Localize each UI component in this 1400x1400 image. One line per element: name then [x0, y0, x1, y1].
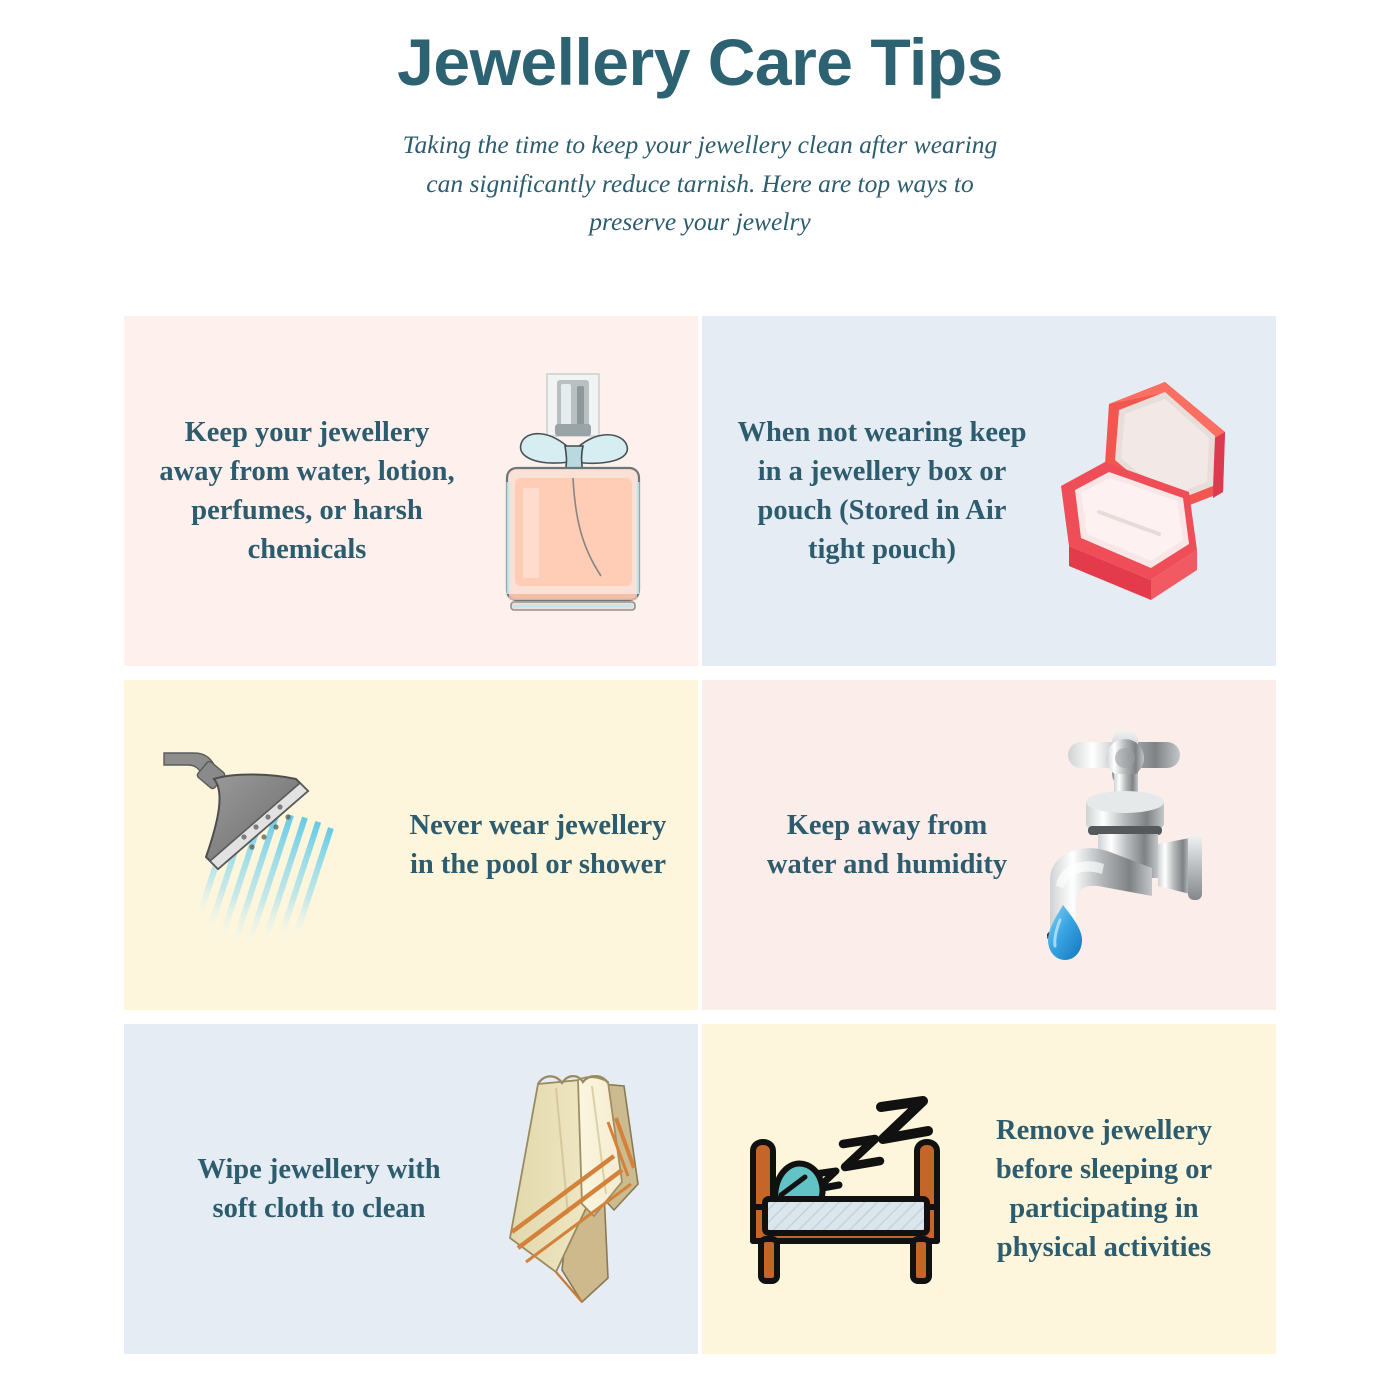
tip-card-text: Never wear jewellery in the pool or show…: [386, 806, 690, 884]
page-subtitle: Taking the time to keep your jewellery c…: [390, 126, 1010, 242]
tip-card-jewellery-box: When not wearing keep in a jewellery box…: [702, 316, 1276, 666]
tip-card-text: Keep away from water and humidity: [752, 806, 1022, 884]
tip-card-text: Keep your jewellery away from water, lot…: [142, 413, 472, 569]
tip-card-faucet: Keep away from water and humidity: [702, 680, 1276, 1010]
page-title: Jewellery Care Tips: [0, 26, 1400, 100]
header: Jewellery Care Tips Taking the time to k…: [0, 0, 1400, 242]
tip-card-text: When not wearing keep in a jewellery box…: [722, 413, 1042, 569]
tip-card-bed: Remove jewellery before sleeping or part…: [702, 1024, 1276, 1354]
jewellery-box-icon: [1042, 374, 1257, 609]
tip-card-shower: Never wear jewellery in the pool or show…: [124, 680, 698, 1010]
tip-card-text: Wipe jewellery with soft cloth to clean: [164, 1150, 474, 1228]
tip-card-text: Remove jewellery before sleeping or part…: [960, 1111, 1248, 1267]
infographic-page: Jewellery Care Tips Taking the time to k…: [0, 0, 1400, 1400]
tips-grid: Keep your jewellery away from water, lot…: [124, 316, 1276, 1354]
perfume-bottle-icon: [472, 366, 672, 616]
faucet-drip-icon: [1022, 728, 1232, 963]
tip-card-cloth: Wipe jewellery with soft cloth to clean: [124, 1024, 698, 1354]
soft-cloth-icon: [474, 1064, 674, 1314]
tip-card-perfume: Keep your jewellery away from water, lot…: [124, 316, 698, 666]
bed-sleeping-icon: [730, 1089, 960, 1289]
shower-head-icon: [154, 733, 386, 958]
